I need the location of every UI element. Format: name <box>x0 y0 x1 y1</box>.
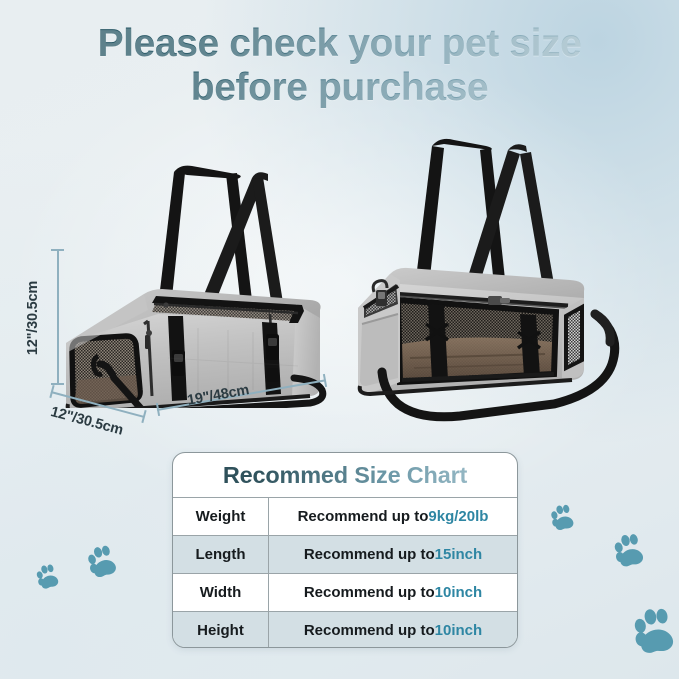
row-value-prefix: Recommend up to <box>298 508 429 525</box>
row-label-weight: Weight <box>173 498 269 535</box>
paw-print-icon <box>546 500 582 536</box>
table-row: Height Recommend up to 10inch <box>173 611 517 648</box>
row-label-length: Length <box>173 536 269 573</box>
row-value-highlight: 10inch <box>435 622 483 639</box>
row-value-prefix: Recommend up to <box>304 622 435 639</box>
size-chart-table: Recommed Size Chart Weight Recommend up … <box>172 452 518 648</box>
size-chart-title: Recommed Size Chart <box>173 453 517 497</box>
paw-print-icon <box>625 600 679 664</box>
row-value-prefix: Recommend up to <box>304 584 435 601</box>
table-row: Weight Recommend up to 9kg/20lb <box>173 497 517 535</box>
row-value-length: Recommend up to 15inch <box>269 536 517 573</box>
paw-print-icon <box>82 540 126 584</box>
row-value-height: Recommend up to 10inch <box>269 612 517 648</box>
pet-carrier-angled-view <box>340 128 640 423</box>
row-label-width: Width <box>173 574 269 611</box>
page-title: Please check your pet size before purcha… <box>0 22 679 110</box>
row-value-prefix: Recommend up to <box>304 546 435 563</box>
row-value-width: Recommend up to 10inch <box>269 574 517 611</box>
row-value-highlight: 10inch <box>435 584 483 601</box>
dimension-height-label: 12"/30.5cm <box>25 281 41 355</box>
table-row: Length Recommend up to 15inch <box>173 535 517 573</box>
row-label-height: Height <box>173 612 269 648</box>
table-row: Width Recommend up to 10inch <box>173 573 517 611</box>
row-value-highlight: 15inch <box>435 546 483 563</box>
pet-carrier-side-view <box>48 128 358 408</box>
row-value-highlight: 9kg/20lb <box>428 508 488 525</box>
row-value-weight: Recommend up to 9kg/20lb <box>269 498 517 535</box>
paw-print-icon <box>608 528 654 574</box>
paw-print-icon <box>32 560 66 594</box>
